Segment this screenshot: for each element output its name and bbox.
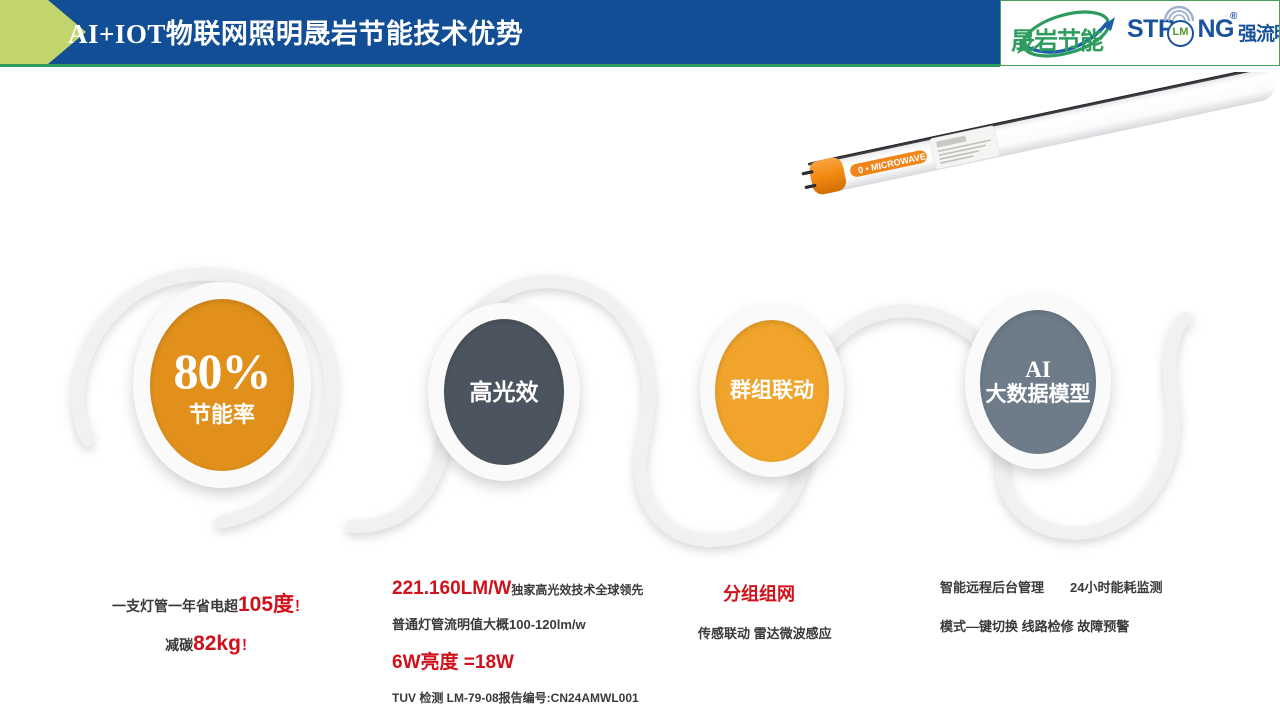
caption-c4-l1-b: 24小时能耗监测 — [1070, 580, 1162, 595]
caption-c1-l2-suffix: ！ — [241, 637, 255, 653]
caption-column-group-networking: 分组组网 传感联动 雷达微波感应 — [723, 580, 832, 642]
caption-column-ai-bigdata: 智能远程后台管理24小时能耗监测 模式—键切换 线路检修 故障预警 — [940, 577, 1162, 635]
logo-brand-cn-green: 晟岩节能 — [1011, 21, 1103, 56]
feature-circle-ai-bigdata[interactable]: AI 大数据模型 — [965, 295, 1111, 469]
page-title: AI+IOT物联网照明晟岩节能技术优势 — [68, 12, 523, 51]
slide-root: AI+IOT物联网照明晟岩节能技术优势 晟岩节能 STRNG LM ® 强流明照… — [0, 0, 1280, 720]
caption-line-3: 6W亮度 =18W — [392, 647, 643, 674]
feature-circle-group-networking-fill: 群组联动 — [715, 320, 829, 462]
header-accent-line — [0, 64, 1000, 67]
caption-c1-l1-suffix: ！ — [294, 598, 308, 614]
feature-circle-high-efficacy-fill: 高光效 — [444, 319, 564, 465]
feature-circle-high-efficacy[interactable]: 高光效 — [428, 303, 580, 481]
caption-c2-lumen-text: 独家高光效技术全球领先 — [511, 583, 643, 597]
caption-line-2: 普通灯管流明值大概100-120lm/w — [392, 614, 643, 633]
caption-line-1: 221.160LM/W独家高光效技术全球领先 — [392, 578, 643, 600]
feature-circle-ai-bigdata-fill: AI 大数据模型 — [980, 310, 1096, 454]
feature-label-ai: AI — [1025, 357, 1051, 383]
caption-column-high-efficacy: 221.160LM/W独家高光效技术全球领先 普通灯管流明值大概100-120l… — [392, 578, 643, 706]
caption-c1-l2-value: 82kg — [193, 632, 241, 655]
feature-sublabel-energy-saving: 节能率 — [189, 402, 255, 427]
feature-circles-group: 80% 节能率 高光效 群组联动 AI 大数据模型 — [0, 210, 1280, 560]
caption-column-energy-saving: 一支灯管一年省电超105度！ 减碳82kg！ — [112, 588, 308, 656]
caption-line-2: 减碳82kg！ — [112, 632, 308, 656]
registered-mark: ® — [1230, 11, 1237, 22]
caption-line-1: 智能远程后台管理24小时能耗监测 — [940, 577, 1162, 596]
lm-badge: LM — [1167, 20, 1194, 47]
feature-circle-group-networking[interactable]: 群组联动 — [700, 305, 844, 477]
caption-c2-lumen-value: 221.160LM/W — [392, 578, 511, 599]
led-tube-illustration: 0 • MICROWAVE — [770, 72, 1280, 202]
caption-line-2: 传感联动 雷达微波感应 — [698, 623, 832, 642]
company-logo: 晟岩节能 STRNG LM ® 强流明照明 — [1000, 0, 1280, 66]
caption-line-1: 分组组网 — [723, 580, 832, 606]
led-tube-product-image: 0 • MICROWAVE — [770, 72, 1280, 202]
caption-c4-l1-a: 智能远程后台管理 — [940, 580, 1044, 595]
logo-strong-part2: NG — [1198, 15, 1235, 43]
feature-label-group-networking: 群组联动 — [730, 379, 814, 403]
caption-c1-l1-value: 105度 — [238, 593, 294, 616]
caption-c1-l2-prefix: 减碳 — [165, 637, 193, 653]
caption-line-1: 一支灯管一年省电超105度！ — [112, 588, 308, 618]
logo-brand-cn-blue: 强流明照明 — [1238, 19, 1280, 46]
feature-label-high-efficacy: 高光效 — [470, 379, 539, 405]
caption-line-2: 模式—键切换 线路检修 故障预警 — [940, 616, 1162, 635]
feature-label-bigdata-model: 大数据模型 — [986, 383, 1091, 407]
feature-value-energy-saving: 80% — [174, 343, 271, 401]
caption-c1-l1-prefix: 一支灯管一年省电超 — [112, 598, 238, 614]
logo-shengyan-mark: 晟岩节能 — [1007, 9, 1125, 59]
caption-line-4: TUV 检测 LM-79-08报告编号:CN24AMWL001 — [392, 689, 643, 706]
feature-circle-energy-saving[interactable]: 80% 节能率 — [133, 282, 311, 488]
feature-circle-energy-saving-fill: 80% 节能率 — [150, 299, 294, 471]
